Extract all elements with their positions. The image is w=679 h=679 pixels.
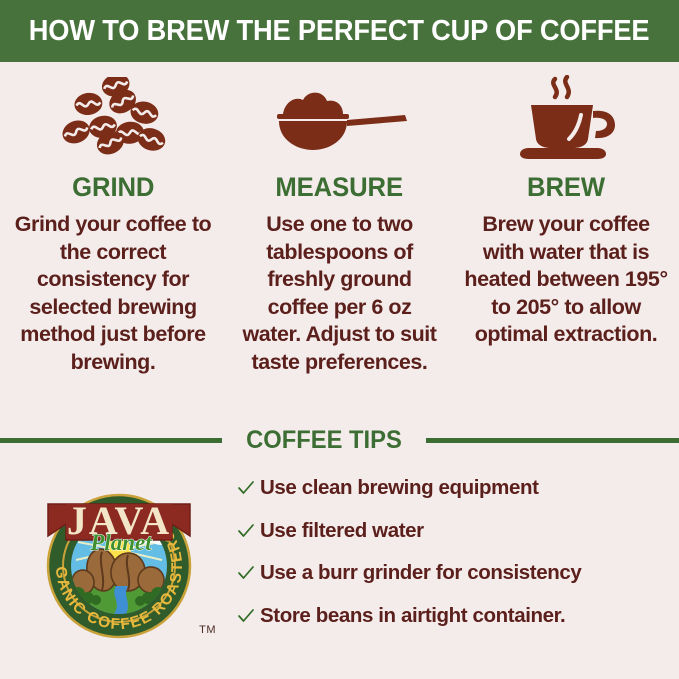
svg-text:Planet: Planet — [89, 530, 152, 555]
step-grind: GRIND Grind your coffee to the correct c… — [0, 76, 226, 376]
tip-text: Use clean brewing equipment — [260, 478, 539, 499]
steps-row: GRIND Grind your coffee to the correct c… — [0, 76, 679, 376]
divider-rule-left — [0, 438, 222, 443]
header-banner: HOW TO BREW THE PERFECT CUP OF COFFEE — [0, 0, 679, 62]
step-body-brew: Brew your coffee with water that is heat… — [463, 211, 669, 349]
step-body-measure: Use one to two tablespoons of freshly gr… — [237, 211, 443, 376]
list-item: Use filtered water — [238, 521, 679, 542]
java-planet-logo: ORGANIC COFFEE ROASTERS — [30, 474, 208, 646]
tip-text: Use filtered water — [260, 521, 424, 542]
coffee-beans-icon — [53, 76, 173, 162]
coffee-tips-list: Use clean brewing equipment Use filtered… — [238, 462, 679, 648]
coffee-tips-label: COFFEE TIPS — [227, 428, 421, 453]
infographic-page: HOW TO BREW THE PERFECT CUP OF COFFEE — [0, 0, 679, 679]
page-title: HOW TO BREW THE PERFECT CUP OF COFFEE — [29, 17, 650, 46]
coffee-cup-icon — [511, 76, 621, 162]
measuring-spoon-icon — [265, 76, 415, 162]
tip-text: Use a burr grinder for consistency — [260, 563, 581, 584]
step-brew: BREW Brew your coffee with water that is… — [453, 76, 679, 349]
check-icon — [238, 481, 260, 495]
step-title-grind: GRIND — [72, 174, 154, 201]
list-item: Use a burr grinder for consistency — [238, 563, 679, 584]
divider-rule-right — [426, 438, 679, 443]
list-item: Store beans in airtight container. — [238, 606, 679, 627]
list-item: Use clean brewing equipment — [238, 478, 679, 499]
step-measure: MEASURE Use one to two tablespoons of fr… — [227, 76, 453, 376]
bottom-section: ORGANIC COFFEE ROASTERS — [0, 462, 679, 679]
coffee-tips-divider: COFFEE TIPS — [0, 424, 679, 456]
logo-area: ORGANIC COFFEE ROASTERS — [0, 462, 238, 646]
trademark-mark: TM — [199, 624, 216, 636]
step-title-brew: BREW — [527, 174, 605, 201]
step-title-measure: MEASURE — [276, 174, 404, 201]
check-icon — [238, 524, 260, 538]
step-body-grind: Grind your coffee to the correct consist… — [10, 211, 216, 376]
check-icon — [238, 566, 260, 580]
tip-text: Store beans in airtight container. — [260, 606, 565, 627]
check-icon — [238, 609, 260, 623]
